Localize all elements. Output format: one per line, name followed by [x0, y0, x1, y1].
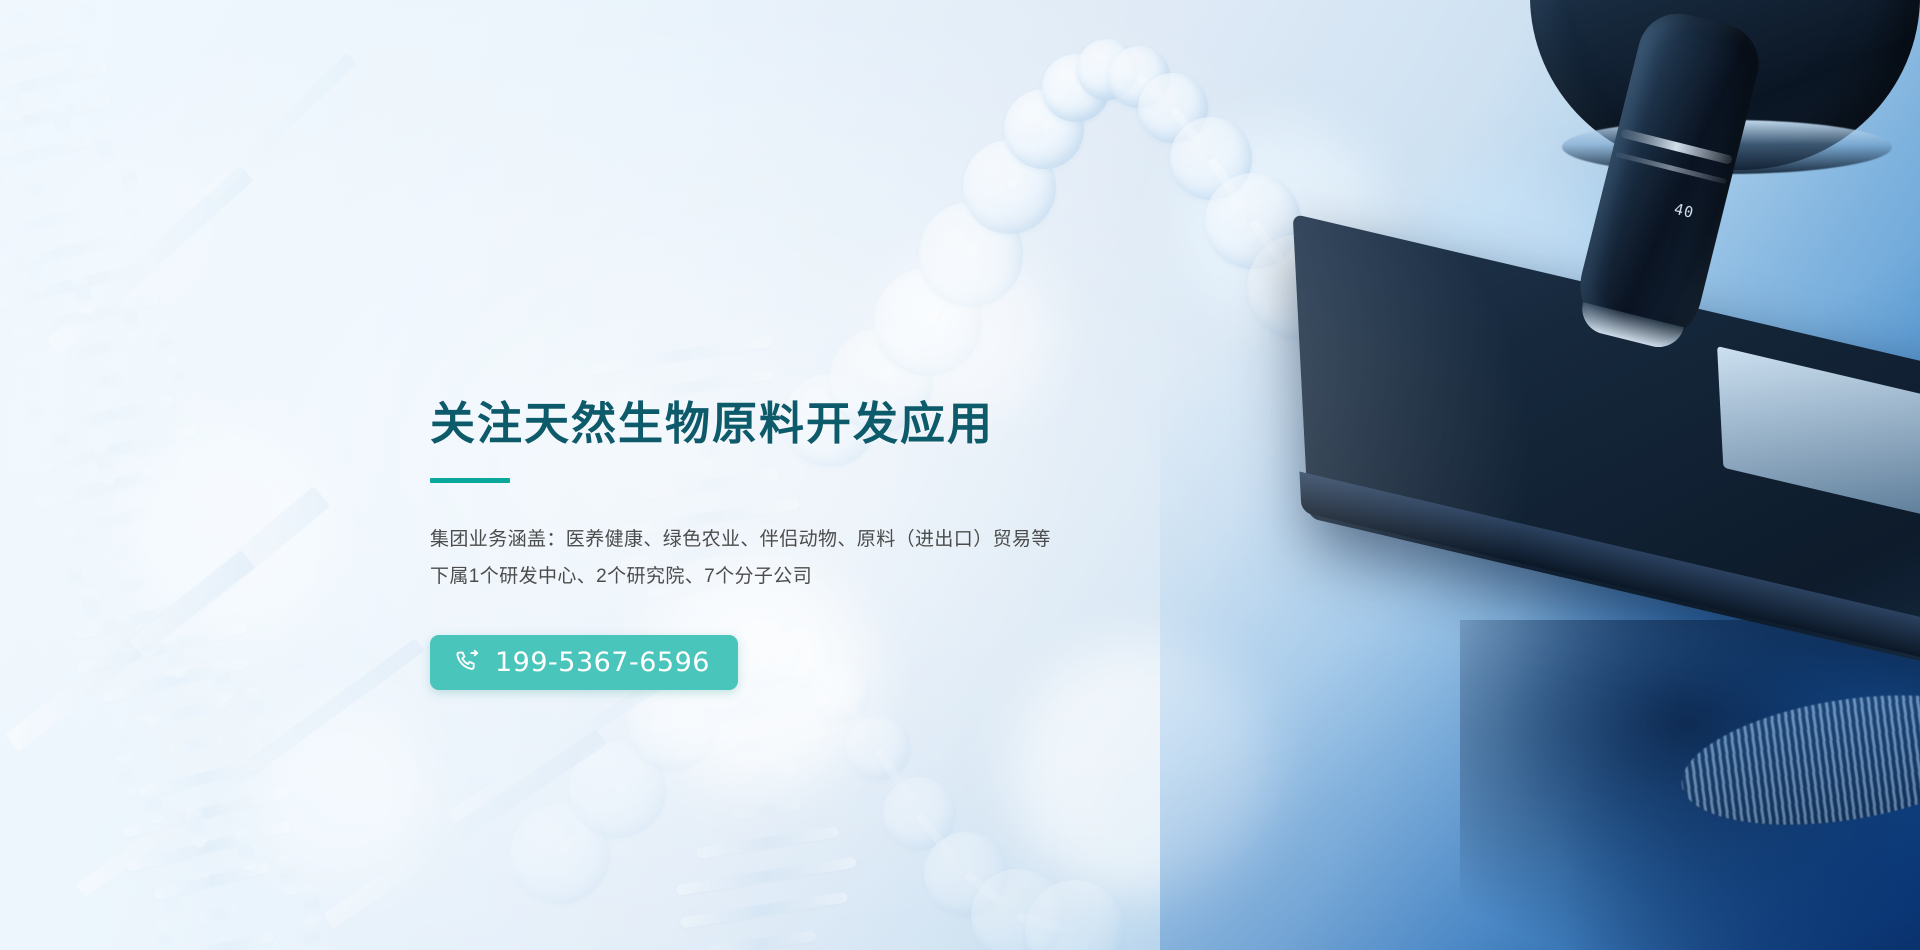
- molecule-bond: [916, 811, 970, 877]
- helix-strand: [71, 274, 96, 317]
- molecule-bond: [924, 253, 975, 325]
- helix-strand: [209, 555, 234, 598]
- molecule-node: [883, 777, 956, 850]
- helix-rung: [0, 8, 40, 30]
- helix-rung: [679, 891, 848, 928]
- helix-strand: [184, 491, 209, 534]
- helix-rung: [169, 733, 224, 757]
- phone-forward-icon: [454, 649, 481, 676]
- glass-shard: [5, 550, 255, 752]
- helix-strand: [156, 393, 181, 436]
- helix-strand: [37, 317, 62, 360]
- helix-strand: [166, 355, 191, 398]
- helix-rung: [0, 0, 50, 2]
- hero-description: 集团业务涵盖：医养健康、绿色农业、伴侣动物、原料（进出口）贸易等 下属1个研发中…: [430, 521, 1190, 595]
- helix-rung: [734, 799, 801, 820]
- helix-strand: [0, 156, 6, 199]
- bokeh-light: [60, 150, 210, 300]
- helix-strand: [141, 466, 166, 509]
- objective-color-band: [1615, 152, 1727, 184]
- helix-rung: [180, 930, 275, 950]
- helix-strand: [71, 519, 96, 562]
- helix-rung: [121, 786, 290, 838]
- hero-banner: 100/1.25 160/0.17 100 40 关注天然生物原料开发应用 集团…: [0, 0, 1920, 950]
- molecule-bond: [963, 871, 1021, 920]
- helix-strand: [244, 686, 269, 729]
- glass-shard: [47, 166, 254, 355]
- helix-rung: [11, 293, 160, 340]
- glass-shard: [203, 53, 357, 203]
- helix-rung: [35, 458, 201, 509]
- molecule-node: [1138, 73, 1208, 143]
- molecule-node: [510, 804, 610, 904]
- helix-rung: [725, 766, 799, 788]
- objective-label-40: 40: [1672, 200, 1696, 222]
- glass-shard: [130, 486, 331, 660]
- description-line-1: 集团业务涵盖：医养健康、绿色农业、伴侣动物、原料（进出口）贸易等: [430, 521, 1190, 558]
- helix-rung: [0, 61, 109, 113]
- helix-strand: [67, 29, 92, 72]
- molecule-bond: [875, 746, 924, 816]
- helix-strand: [0, 224, 13, 267]
- helix-strand: [189, 595, 214, 638]
- molecule-node: [874, 268, 982, 376]
- molecule-bond: [837, 690, 882, 751]
- molecule-node: [1170, 117, 1253, 200]
- molecule-bond: [1136, 74, 1176, 112]
- helix-strand: [299, 918, 324, 950]
- helix-rung: [146, 696, 229, 727]
- helix-rung: [72, 592, 225, 640]
- molecule-bond: [877, 319, 931, 383]
- hero-content: 关注天然生物原料开发应用 集团业务涵盖：医养健康、绿色农业、伴侣动物、原料（进出…: [430, 398, 1190, 690]
- page-title: 关注天然生物原料开发应用: [430, 398, 1190, 450]
- helix-strand: [256, 718, 281, 761]
- helix-strand: [19, 357, 44, 400]
- helix-strand: [219, 797, 244, 840]
- molecule-node: [1108, 46, 1169, 107]
- helix-strand: [79, 587, 104, 630]
- helix-rung: [197, 904, 238, 924]
- helix-rung: [0, 258, 158, 311]
- helix-strand: [275, 854, 300, 897]
- molecule-bond: [1169, 106, 1214, 162]
- helix-strand: [7, 114, 32, 157]
- molecule-node: [1205, 173, 1301, 269]
- glass-shard: [323, 729, 607, 928]
- bokeh-light: [250, 700, 430, 880]
- molecule-node: [919, 202, 1023, 306]
- helix-rung: [0, 32, 83, 73]
- molecule-bond: [1017, 912, 1076, 935]
- molecule-bond: [1250, 219, 1304, 290]
- helix-strand: [63, 556, 88, 599]
- helix-strand: [109, 720, 134, 763]
- helix-rung: [0, 135, 92, 175]
- microscope-turret: [1530, 0, 1920, 170]
- description-line-2: 下属1个研发中心、2个研究院、7个分子公司: [430, 558, 1190, 595]
- helix-rung: [590, 335, 773, 375]
- helix-strand: [140, 782, 165, 825]
- helix-strand: [96, 478, 121, 521]
- helix-strand: [92, 128, 117, 171]
- helix-strand: [113, 754, 138, 797]
- helix-rung: [106, 541, 150, 562]
- microscope-focus-knob: [1673, 675, 1920, 845]
- helix-rung: [138, 757, 266, 799]
- helix-strand: [160, 882, 185, 925]
- helix-rung: [0, 229, 134, 277]
- helix-strand: [49, 419, 74, 462]
- helix-rung: [80, 370, 132, 393]
- microscope-image: 100/1.25 160/0.17 100 40: [1160, 0, 1920, 950]
- helix-rung: [125, 821, 290, 872]
- phone-contact-button[interactable]: 199-5367-6596: [430, 635, 738, 690]
- helix-strand: [62, 0, 87, 3]
- molecule-bond: [1106, 66, 1140, 82]
- title-divider: [430, 478, 510, 483]
- glass-shard: [447, 670, 673, 823]
- helix-rung: [153, 861, 271, 900]
- helix-strand: [163, 636, 188, 679]
- helix-rung: [90, 568, 183, 601]
- microscope-blue-glow: [1160, 0, 1920, 950]
- microscope-stage-edge: [1299, 471, 1920, 680]
- helix-strand: [298, 883, 323, 926]
- microscope-turret-ring: [1562, 120, 1892, 174]
- helix-strand: [23, 391, 48, 434]
- helix-rung: [62, 498, 182, 538]
- helix-strand: [127, 680, 152, 723]
- molecule-node: [1042, 54, 1109, 121]
- helix-strand: [210, 659, 235, 702]
- helix-rung: [14, 178, 61, 200]
- helix-strand: [119, 192, 144, 235]
- helix-strand: [129, 434, 154, 477]
- helix-strand: [117, 157, 142, 200]
- helix-rung: [678, 728, 827, 762]
- microscope-objective-40x: 40: [1569, 5, 1767, 355]
- helix-strand: [76, 0, 101, 35]
- helix-strand: [50, 104, 75, 147]
- molecule-node: [963, 140, 1057, 234]
- molecule-node: [1025, 880, 1124, 950]
- helix-rung: [708, 930, 817, 950]
- molecule-bond: [557, 787, 621, 857]
- molecule-bond: [967, 185, 1013, 257]
- molecule-node: [971, 869, 1065, 950]
- molecule-node: [628, 681, 717, 770]
- helix-strand: [0, 81, 25, 124]
- helix-strand: [186, 841, 211, 884]
- helix-strand: [233, 829, 258, 872]
- helix-strand: [208, 520, 233, 563]
- helix-strand: [68, 274, 93, 317]
- helix-strand: [40, 71, 65, 114]
- helix-rung: [648, 694, 831, 734]
- objective-color-band: [1620, 128, 1733, 164]
- helix-strand: [153, 323, 178, 366]
- helix-rung: [31, 423, 200, 475]
- molecule-node: [1004, 89, 1084, 169]
- molecule-bond: [1074, 66, 1109, 92]
- molecule-node: [846, 716, 910, 780]
- helix-strand: [184, 806, 209, 849]
- bokeh-light: [880, 250, 1050, 420]
- helix-strand: [115, 613, 140, 656]
- molecule-bond: [1006, 127, 1048, 190]
- helix-rung: [76, 621, 249, 674]
- molecule-node: [1077, 39, 1138, 100]
- helix-rung: [54, 333, 139, 364]
- helix-rung: [675, 857, 857, 896]
- helix-strand: [153, 919, 178, 950]
- bokeh-light: [1180, 120, 1380, 320]
- microscope-base-shadow: [1460, 620, 1920, 950]
- bokeh-light: [120, 430, 330, 640]
- helix-rung: [49, 395, 175, 436]
- helix-strand: [23, 251, 48, 294]
- microscope-slide: [1717, 346, 1920, 538]
- molecule-node: [1247, 234, 1353, 340]
- bokeh-light: [1390, 170, 1620, 400]
- molecule-bond: [614, 724, 675, 794]
- helix-rung: [102, 656, 249, 703]
- helix-strand: [157, 638, 182, 681]
- helix-strand: [246, 756, 271, 799]
- microscope-stage: [1293, 214, 1920, 687]
- molecule-bond: [1041, 86, 1080, 133]
- molecule-bond: [1207, 157, 1257, 225]
- helix-rung: [1, 205, 91, 238]
- molecule-node: [924, 832, 1008, 916]
- helix-strand: [100, 231, 125, 274]
- phone-number-label: 199-5367-6596: [495, 649, 710, 676]
- glass-shard: [75, 638, 424, 898]
- helix-strand: [118, 297, 143, 340]
- helix-rung: [696, 826, 840, 859]
- molecule-node: [569, 741, 666, 838]
- helix-rung: [0, 95, 111, 147]
- helix-strand: [92, 444, 117, 487]
